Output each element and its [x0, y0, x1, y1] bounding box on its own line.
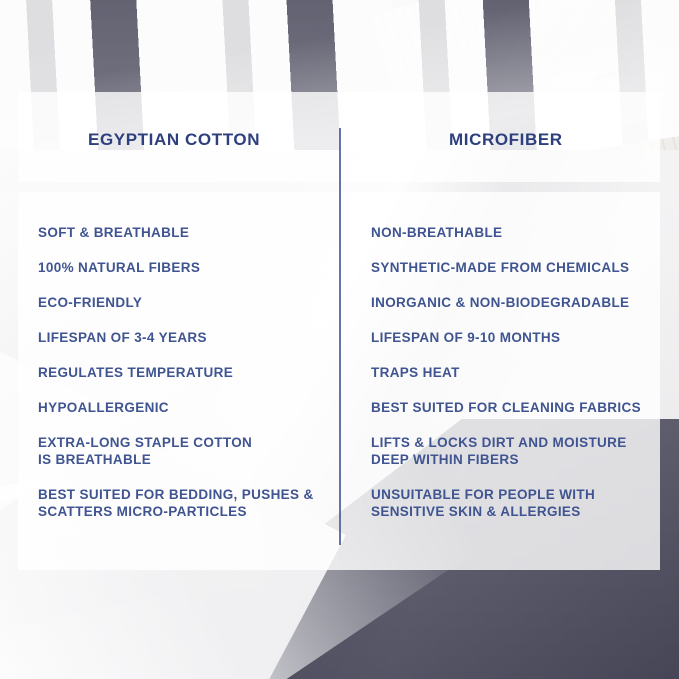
feature-item: EXTRA-LONG STAPLE COTTON IS BREATHABLE: [38, 434, 328, 468]
feature-item: INORGANIC & NON-BIODEGRADABLE: [371, 294, 656, 311]
column-heading-microfiber: MICROFIBER: [449, 130, 563, 150]
feature-item: BEST SUITED FOR BEDDING, PUSHES & SCATTE…: [38, 486, 328, 520]
comparison-content: EGYPTIAN COTTON MICROFIBER SOFT & BREATH…: [0, 0, 679, 679]
column-divider: [339, 128, 341, 545]
feature-item: HYPOALLERGENIC: [38, 399, 328, 416]
comparison-infographic: Times EGYPTIAN COTTON MICROFIBER SOFT & …: [0, 0, 679, 679]
feature-item: SOFT & BREATHABLE: [38, 224, 328, 241]
feature-item: LIFESPAN OF 3-4 YEARS: [38, 329, 328, 346]
column-egyptian-cotton: SOFT & BREATHABLE 100% NATURAL FIBERS EC…: [38, 224, 328, 538]
feature-item: REGULATES TEMPERATURE: [38, 364, 328, 381]
feature-item: 100% NATURAL FIBERS: [38, 259, 328, 276]
feature-item: ECO-FRIENDLY: [38, 294, 328, 311]
feature-item: BEST SUITED FOR CLEANING FABRICS: [371, 399, 656, 416]
feature-item: SYNTHETIC-MADE FROM CHEMICALS: [371, 259, 656, 276]
feature-item: LIFESPAN OF 9-10 MONTHS: [371, 329, 656, 346]
column-heading-egyptian-cotton: EGYPTIAN COTTON: [88, 130, 260, 150]
column-microfiber: NON-BREATHABLE SYNTHETIC-MADE FROM CHEMI…: [371, 224, 656, 538]
feature-item: TRAPS HEAT: [371, 364, 656, 381]
feature-item: NON-BREATHABLE: [371, 224, 656, 241]
feature-item: LIFTS & LOCKS DIRT AND MOISTURE DEEP WIT…: [371, 434, 656, 468]
feature-item: UNSUITABLE FOR PEOPLE WITH SENSITIVE SKI…: [371, 486, 656, 520]
